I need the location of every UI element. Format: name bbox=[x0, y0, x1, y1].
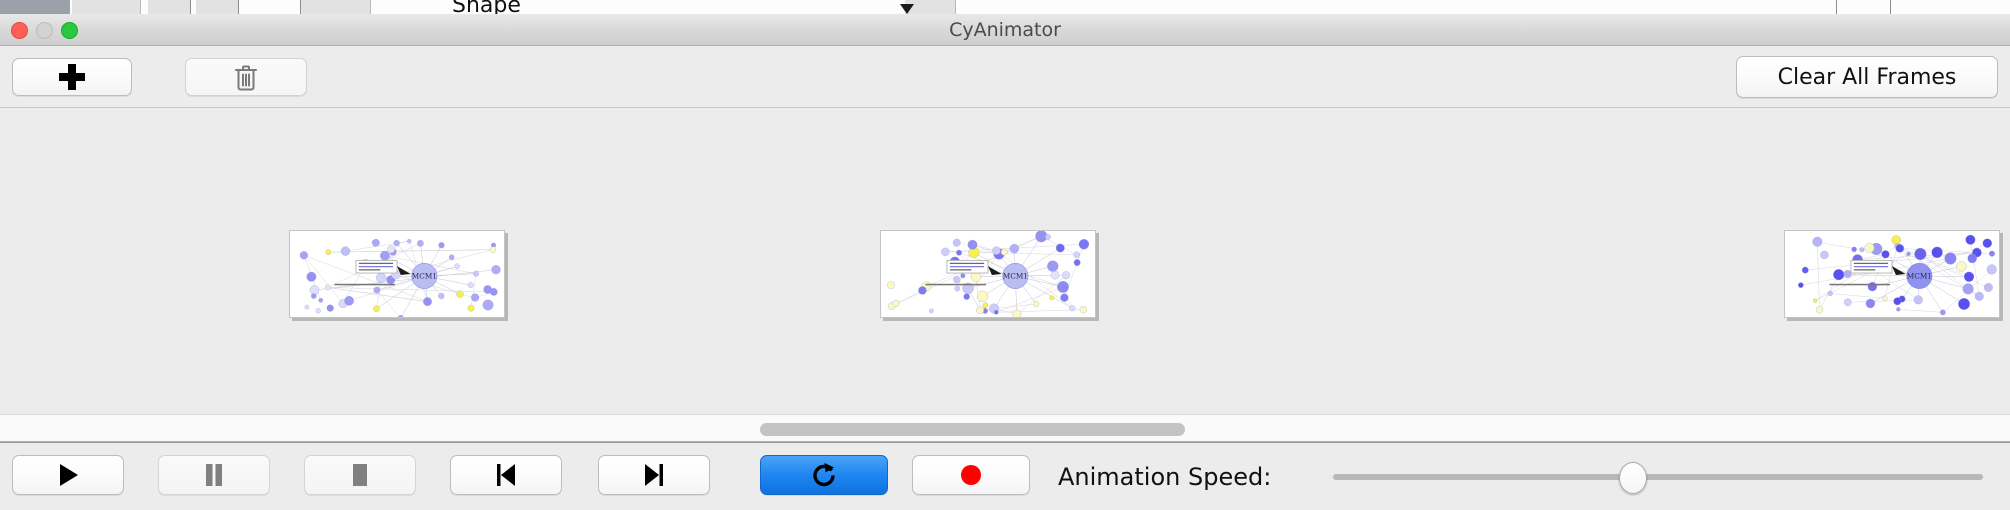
previous-frame-button[interactable] bbox=[450, 455, 562, 495]
cyanimator-window: Shape CyAnimator Clear All Frames MCM1MC… bbox=[0, 0, 2010, 510]
frame-toolbar: Clear All Frames bbox=[0, 46, 2010, 108]
background-window-tick bbox=[238, 0, 239, 14]
frame-thumbnail[interactable]: MCM1 bbox=[289, 230, 505, 318]
timeline-horizontal-scrollbar[interactable] bbox=[0, 414, 2010, 442]
scrollbar-thumb[interactable] bbox=[760, 423, 1185, 436]
clear-all-frames-button[interactable]: Clear All Frames bbox=[1736, 56, 1998, 98]
hub-node-label: MCM1 bbox=[412, 271, 437, 280]
hub-node-label: MCM1 bbox=[1907, 271, 1932, 280]
hub-node-label: MCM1 bbox=[1003, 271, 1028, 280]
timeline-panel[interactable]: MCM1MCM1MCM1 2131415161718 Seconds bbox=[0, 108, 2010, 414]
network-graph: MCM1 bbox=[290, 231, 504, 317]
trash-icon bbox=[234, 64, 258, 91]
skip-forward-icon bbox=[642, 462, 666, 488]
slider-track[interactable] bbox=[1333, 474, 1983, 480]
plus-icon bbox=[59, 64, 85, 90]
play-button[interactable] bbox=[12, 455, 124, 495]
background-window-sidebar bbox=[0, 0, 70, 14]
background-window-chip bbox=[148, 0, 191, 14]
background-window-tick bbox=[1836, 0, 1837, 14]
add-frame-button[interactable] bbox=[12, 58, 132, 96]
background-window-marker bbox=[900, 4, 914, 14]
timeline-frame[interactable]: MCM1 bbox=[289, 230, 505, 320]
stop-icon bbox=[349, 462, 371, 488]
network-graph: MCM1 bbox=[881, 231, 1095, 317]
timeline-frame[interactable]: MCM1 bbox=[880, 230, 1096, 320]
skip-back-icon bbox=[494, 462, 518, 488]
stop-button[interactable] bbox=[304, 455, 416, 495]
background-window-tick bbox=[1890, 0, 1891, 14]
background-window-label: Shape bbox=[452, 0, 521, 15]
playback-toolbar: Animation Speed: bbox=[0, 442, 2010, 510]
animation-speed-label: Animation Speed: bbox=[1058, 443, 1271, 510]
frame-thumbnail[interactable]: MCM1 bbox=[1784, 230, 2000, 318]
background-window-tick bbox=[300, 0, 301, 14]
background-window-chip bbox=[72, 0, 141, 14]
network-graph: MCM1 bbox=[1785, 231, 1999, 317]
background-window-tick bbox=[190, 0, 191, 14]
timeline-frame[interactable]: MCM1 bbox=[1784, 230, 2000, 320]
loop-button[interactable] bbox=[760, 455, 888, 495]
delete-frame-button[interactable] bbox=[185, 58, 307, 96]
pause-button[interactable] bbox=[158, 455, 270, 495]
background-window-chip bbox=[196, 0, 239, 14]
record-button[interactable] bbox=[912, 455, 1030, 495]
pause-icon bbox=[203, 462, 225, 488]
record-icon bbox=[959, 463, 983, 487]
slider-thumb[interactable] bbox=[1619, 462, 1647, 494]
title-bar: CyAnimator bbox=[0, 14, 2010, 46]
loop-icon bbox=[811, 461, 837, 489]
play-icon bbox=[56, 462, 80, 488]
background-window-strip: Shape bbox=[0, 0, 2010, 15]
frame-thumbnail[interactable]: MCM1 bbox=[880, 230, 1096, 318]
background-window-chip bbox=[300, 0, 371, 14]
next-frame-button[interactable] bbox=[598, 455, 710, 495]
animation-speed-slider[interactable] bbox=[1333, 443, 1983, 510]
window-title: CyAnimator bbox=[0, 14, 2010, 46]
